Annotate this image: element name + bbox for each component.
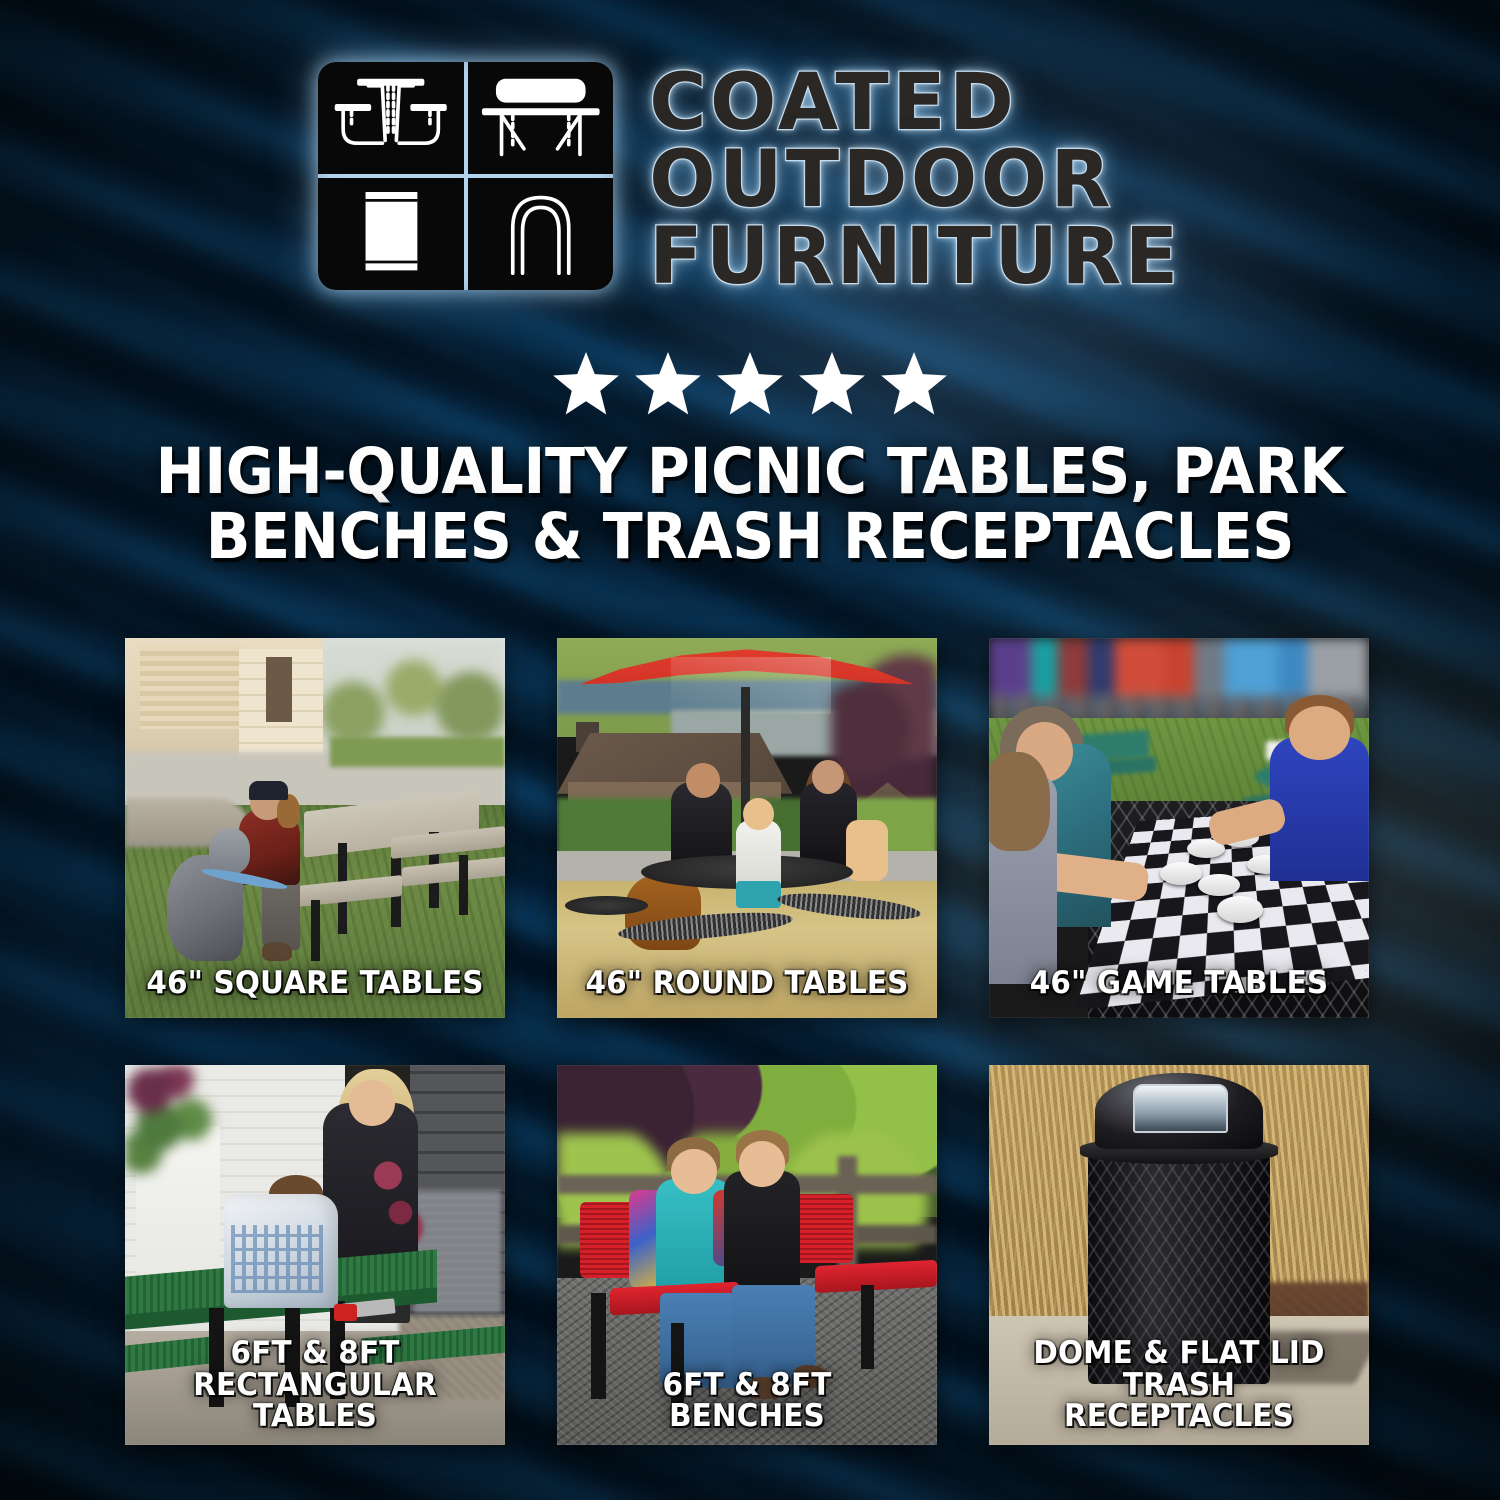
headline-line-2: BENCHES & TRASH RECEPTACLES [108, 505, 1391, 570]
caption-line-1: 6FT & 8FT [142, 1338, 488, 1370]
product-photo-game-tables [989, 638, 1369, 1018]
product-caption-square-tables: 46" SQUARE TABLES [142, 968, 488, 1000]
headline-line-1: HIGH-QUALITY PICNIC TABLES, PARK [108, 440, 1391, 505]
product-photo-round-tables [557, 638, 937, 1018]
star-icon [799, 352, 865, 415]
star-icon [553, 352, 619, 415]
product-caption-rectangular-tables: 6FT & 8FT RECTANGULAR TABLES [142, 1338, 488, 1433]
product-tile-trash-receptacles[interactable]: DOME & FLAT LID TRASH RECEPTACLES [989, 1065, 1369, 1445]
park-bench-icon [468, 62, 614, 174]
star-icon [881, 352, 947, 415]
logo-wordmark: COATED OUTDOOR FURNITURE [649, 62, 1181, 295]
dome-lid-trash-receptacle-icon [468, 178, 614, 290]
product-tile-rectangular-tables[interactable]: 6FT & 8FT RECTANGULAR TABLES [125, 1065, 505, 1445]
caption-line-2: BENCHES [574, 1401, 920, 1433]
star-icon [635, 352, 701, 415]
picnic-table-icon [318, 62, 464, 174]
star-icon [717, 352, 783, 415]
caption-line-1: DOME & FLAT LID [1006, 1338, 1352, 1370]
caption-line-1: 46" ROUND TABLES [574, 968, 920, 1000]
product-caption-benches: 6FT & 8FT BENCHES [574, 1370, 920, 1433]
logo-word-furniture: FURNITURE [649, 220, 1181, 295]
product-caption-trash-receptacles: DOME & FLAT LID TRASH RECEPTACLES [1006, 1338, 1352, 1433]
caption-line-1: 46" SQUARE TABLES [142, 968, 488, 1000]
caption-line-2: TRASH RECEPTACLES [1006, 1370, 1352, 1433]
logo-mark-grid [318, 62, 613, 290]
logo-word-outdoor: OUTDOOR [649, 143, 1181, 218]
caption-line-2: RECTANGULAR TABLES [142, 1370, 488, 1433]
logo-word-coated: COATED [649, 66, 1181, 141]
product-caption-round-tables: 46" ROUND TABLES [574, 968, 920, 1000]
product-grid: 46" SQUARE TABLES [125, 638, 1377, 1445]
star-rating [0, 352, 1500, 415]
product-tile-game-tables[interactable]: 46" GAME TABLES [989, 638, 1369, 1018]
flat-lid-trash-receptacle-icon [318, 178, 464, 290]
product-caption-game-tables: 46" GAME TABLES [1006, 968, 1352, 1000]
product-photo-square-tables [125, 638, 505, 1018]
headline: HIGH-QUALITY PICNIC TABLES, PARK BENCHES… [108, 440, 1391, 570]
product-tile-benches[interactable]: 6FT & 8FT BENCHES [557, 1065, 937, 1445]
product-tile-square-tables[interactable]: 46" SQUARE TABLES [125, 638, 505, 1018]
caption-line-1: 46" GAME TABLES [1006, 968, 1352, 1000]
caption-line-1: 6FT & 8FT [574, 1370, 920, 1402]
brand-logo-lockup[interactable]: COATED OUTDOOR FURNITURE [0, 62, 1500, 295]
product-tile-round-tables[interactable]: 46" ROUND TABLES [557, 638, 937, 1018]
